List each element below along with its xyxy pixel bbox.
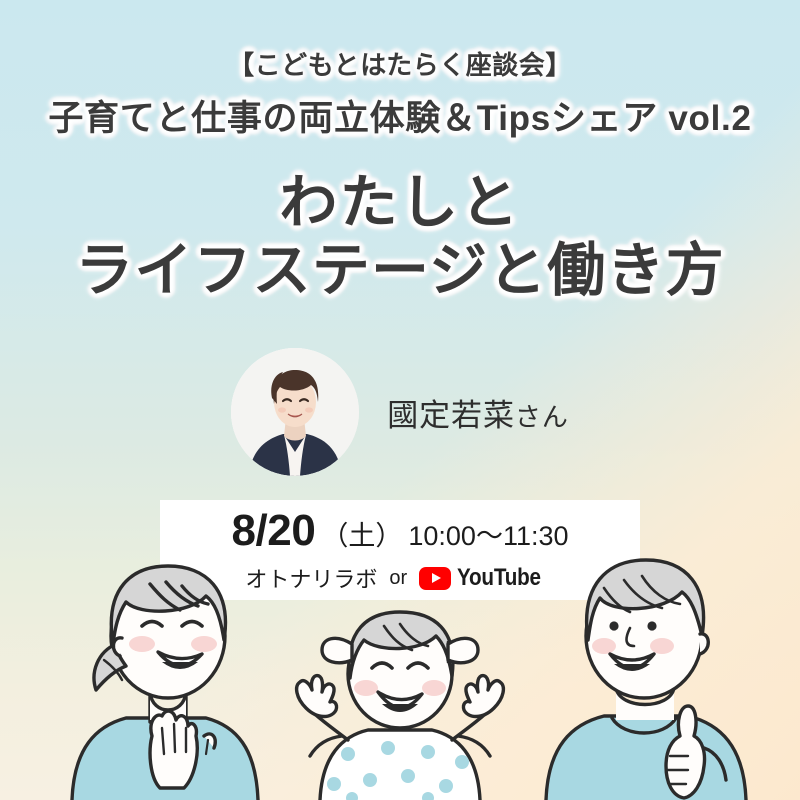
figure-girl-center	[297, 612, 504, 800]
speaker-honorific: さん	[515, 402, 569, 432]
figure-woman-left	[72, 566, 258, 800]
poster-title-line-2: ライフステージと働き方	[0, 236, 800, 306]
speaker-block: 國定若菜さん	[0, 348, 800, 476]
speaker-name-text: 國定若菜	[387, 398, 515, 433]
event-poster: 【こどもとはたらく座談会】 子育てと仕事の両立体験＆Tipsシェア vol.2 …	[0, 0, 800, 800]
family-illustration-svg	[0, 540, 800, 800]
poster-kicker: 【こどもとはたらく座談会】	[0, 48, 800, 82]
family-illustration	[0, 540, 800, 800]
poster-title-line-1: わたしと	[0, 168, 800, 238]
portrait-photo-icon	[231, 348, 359, 476]
speaker-avatar	[231, 348, 359, 476]
figure-man-right	[546, 560, 746, 800]
poster-subtitle: 子育てと仕事の両立体験＆Tipsシェア vol.2	[0, 96, 800, 142]
speaker-name: 國定若菜さん	[387, 390, 569, 435]
